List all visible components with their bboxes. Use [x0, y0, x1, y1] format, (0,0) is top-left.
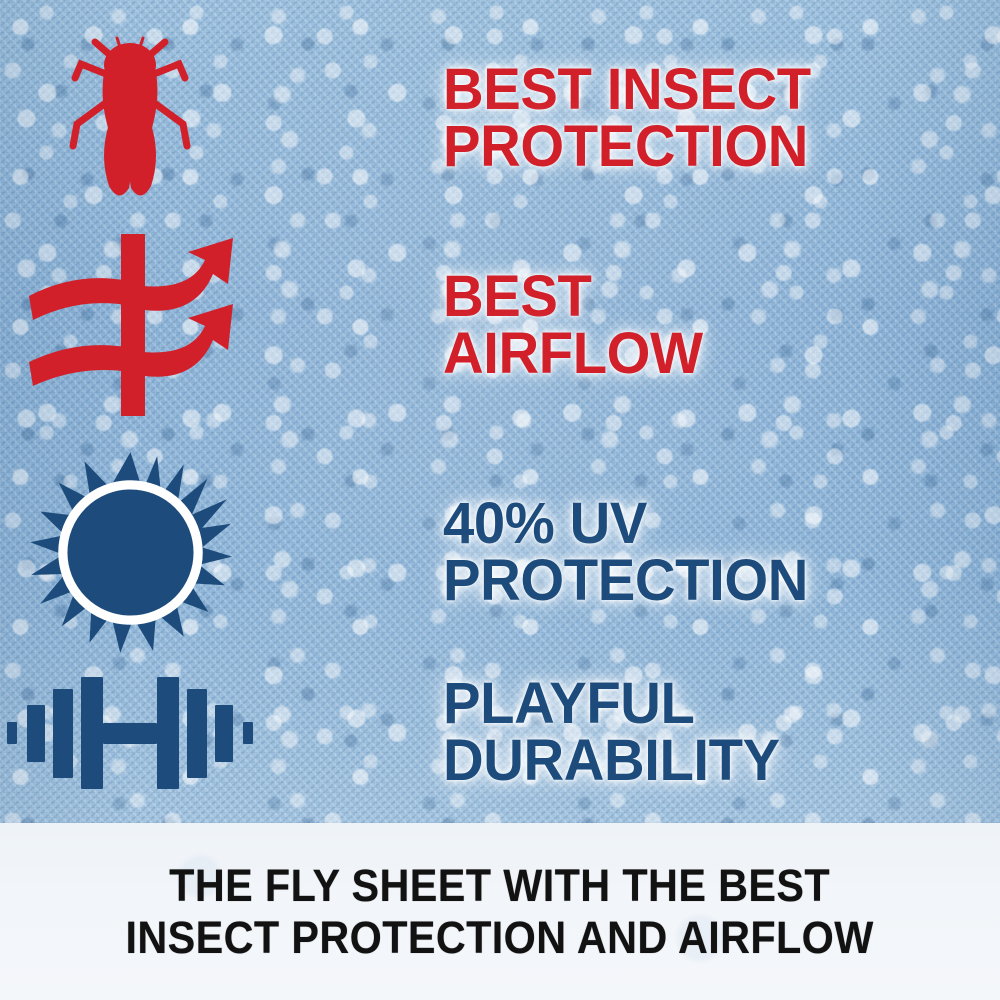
feature-row-durability: PLAYFUL DURABILITY	[0, 658, 1000, 806]
sun-icon	[28, 450, 233, 655]
fly-icon-container	[0, 28, 260, 208]
uv-protection-text-column: 40% UV PROTECTION	[443, 495, 819, 610]
caption-band: THE FLY SHEET WITH THE BEST INSECT PROTE…	[0, 823, 1000, 1000]
durability-text-column: PLAYFUL DURABILITY	[443, 675, 790, 790]
feature-label-airflow: BEST AIRFLOW	[443, 268, 703, 383]
product-feature-infographic: BEST INSECT PROTECTION BEST AIRFLOW	[0, 0, 1000, 1000]
feature-row-uv-protection: 40% UV PROTECTION	[0, 448, 1000, 656]
airflow-arrows-icon	[23, 232, 238, 418]
dumbbell-icon-container	[0, 667, 260, 797]
fly-icon	[55, 28, 205, 208]
feature-label-durability: PLAYFUL DURABILITY	[443, 675, 780, 790]
caption-headline: THE FLY SHEET WITH THE BEST INSECT PROTE…	[109, 860, 890, 964]
dumbbell-icon	[5, 667, 255, 797]
feature-label-uv-protection: 40% UV PROTECTION	[443, 495, 808, 610]
airflow-icon-container	[0, 232, 260, 418]
feature-label-insect-protection: BEST INSECT PROTECTION	[443, 61, 811, 176]
feature-row-insect-protection: BEST INSECT PROTECTION	[0, 28, 1000, 208]
feature-row-airflow: BEST AIRFLOW	[0, 232, 1000, 418]
airflow-text-column: BEST AIRFLOW	[443, 268, 711, 383]
insect-protection-text-column: BEST INSECT PROTECTION	[443, 61, 822, 176]
sun-icon-container	[0, 450, 260, 655]
